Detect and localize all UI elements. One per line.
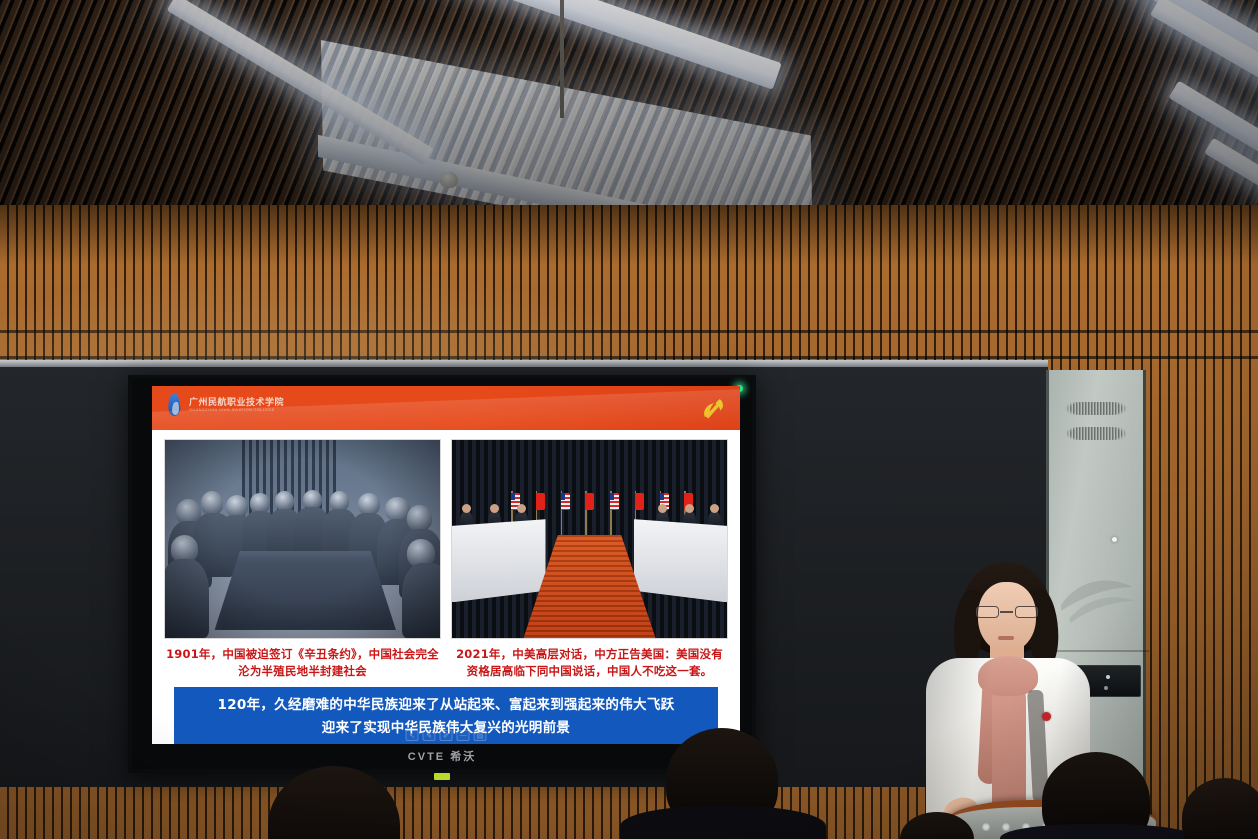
- screenshot-root: 广州民航职业技术学院 GUANGZHOU CIVIL AVIATION COLL…: [0, 0, 1258, 839]
- wall-shadow: [0, 205, 1258, 265]
- lectern-button[interactable]: [1002, 823, 1010, 831]
- presenter-mouth: [998, 636, 1014, 640]
- speaker-grille-icon: [1061, 402, 1131, 415]
- ceiling-sensor-icon: [440, 172, 458, 188]
- flag-us-icon: [606, 491, 615, 517]
- caption-2021: 2021年，中美高层对话，中方正告美国：美国没有资格居高临下同中国说话，中国人不…: [451, 646, 728, 679]
- speaker-grille-icon: [1061, 427, 1131, 440]
- caption-1901: 1901年，中国被迫签订《辛丑条约》，中国社会完全沦为半殖民地半封建社会: [164, 646, 441, 679]
- previous-icon[interactable]: —: [457, 730, 470, 741]
- photo-vignette: [165, 440, 440, 638]
- hammer-and-sickle-icon: [700, 395, 726, 421]
- photo-1901: [164, 439, 441, 639]
- flame-logo-icon: [164, 393, 184, 417]
- menu-icon[interactable]: ▤: [474, 730, 487, 741]
- conference-table-right: [634, 519, 728, 602]
- college-logo: 广州民航职业技术学院 GUANGZHOU CIVIL AVIATION COLL…: [164, 393, 284, 417]
- audience-shoulders: [620, 806, 826, 839]
- pen-icon[interactable]: ✎: [423, 730, 436, 741]
- flag-us-icon: [557, 491, 566, 517]
- ceiling-hanging-rod: [560, 0, 564, 118]
- caption-row: 1901年，中国被迫签订《辛丑条约》，中国社会完全沦为半殖民地半封建社会 202…: [164, 646, 728, 679]
- wall-seam: [0, 330, 1258, 333]
- brand-label: CVTE 希沃: [408, 748, 476, 764]
- presentation-toolbar[interactable]: ↖ ✎ ✐ — ▤: [406, 730, 487, 741]
- glasses-icon: [975, 606, 1039, 618]
- pointer-icon[interactable]: ↖: [406, 730, 419, 741]
- photo-2021: [451, 439, 728, 639]
- presentation-slide: 广州民航职业技术学院 GUANGZHOU CIVIL AVIATION COLL…: [152, 386, 740, 744]
- status-led-icon: [434, 773, 450, 780]
- flag-us-icon: [507, 491, 516, 517]
- slide-body: 1901年，中国被迫签订《辛丑条约》，中国社会完全沦为半殖民地半封建社会 202…: [152, 430, 740, 744]
- lectern-button[interactable]: [982, 823, 990, 831]
- wall-seam: [0, 356, 1258, 359]
- flag-cn-icon: [532, 491, 541, 517]
- college-name-en: GUANGZHOU CIVIL AVIATION COLLEGE: [189, 408, 284, 412]
- slide-header: 广州民航职业技术学院 GUANGZHOU CIVIL AVIATION COLL…: [152, 386, 740, 430]
- banner-line-1: 120年，久经磨难的中华民族迎来了从站起来、富起来到强起来的伟大飞跃: [218, 697, 675, 713]
- flag-cn-icon: [631, 491, 640, 517]
- highlighter-icon[interactable]: ✐: [440, 730, 453, 741]
- screw-icon: [1112, 537, 1117, 542]
- display-brand: CVTE 希沃: [132, 745, 752, 767]
- conference-table-left: [452, 519, 546, 602]
- smart-display[interactable]: 广州民航职业技术学院 GUANGZHOU CIVIL AVIATION COLL…: [128, 375, 756, 773]
- flag-cn-icon: [581, 491, 590, 517]
- photo-row: [164, 439, 728, 639]
